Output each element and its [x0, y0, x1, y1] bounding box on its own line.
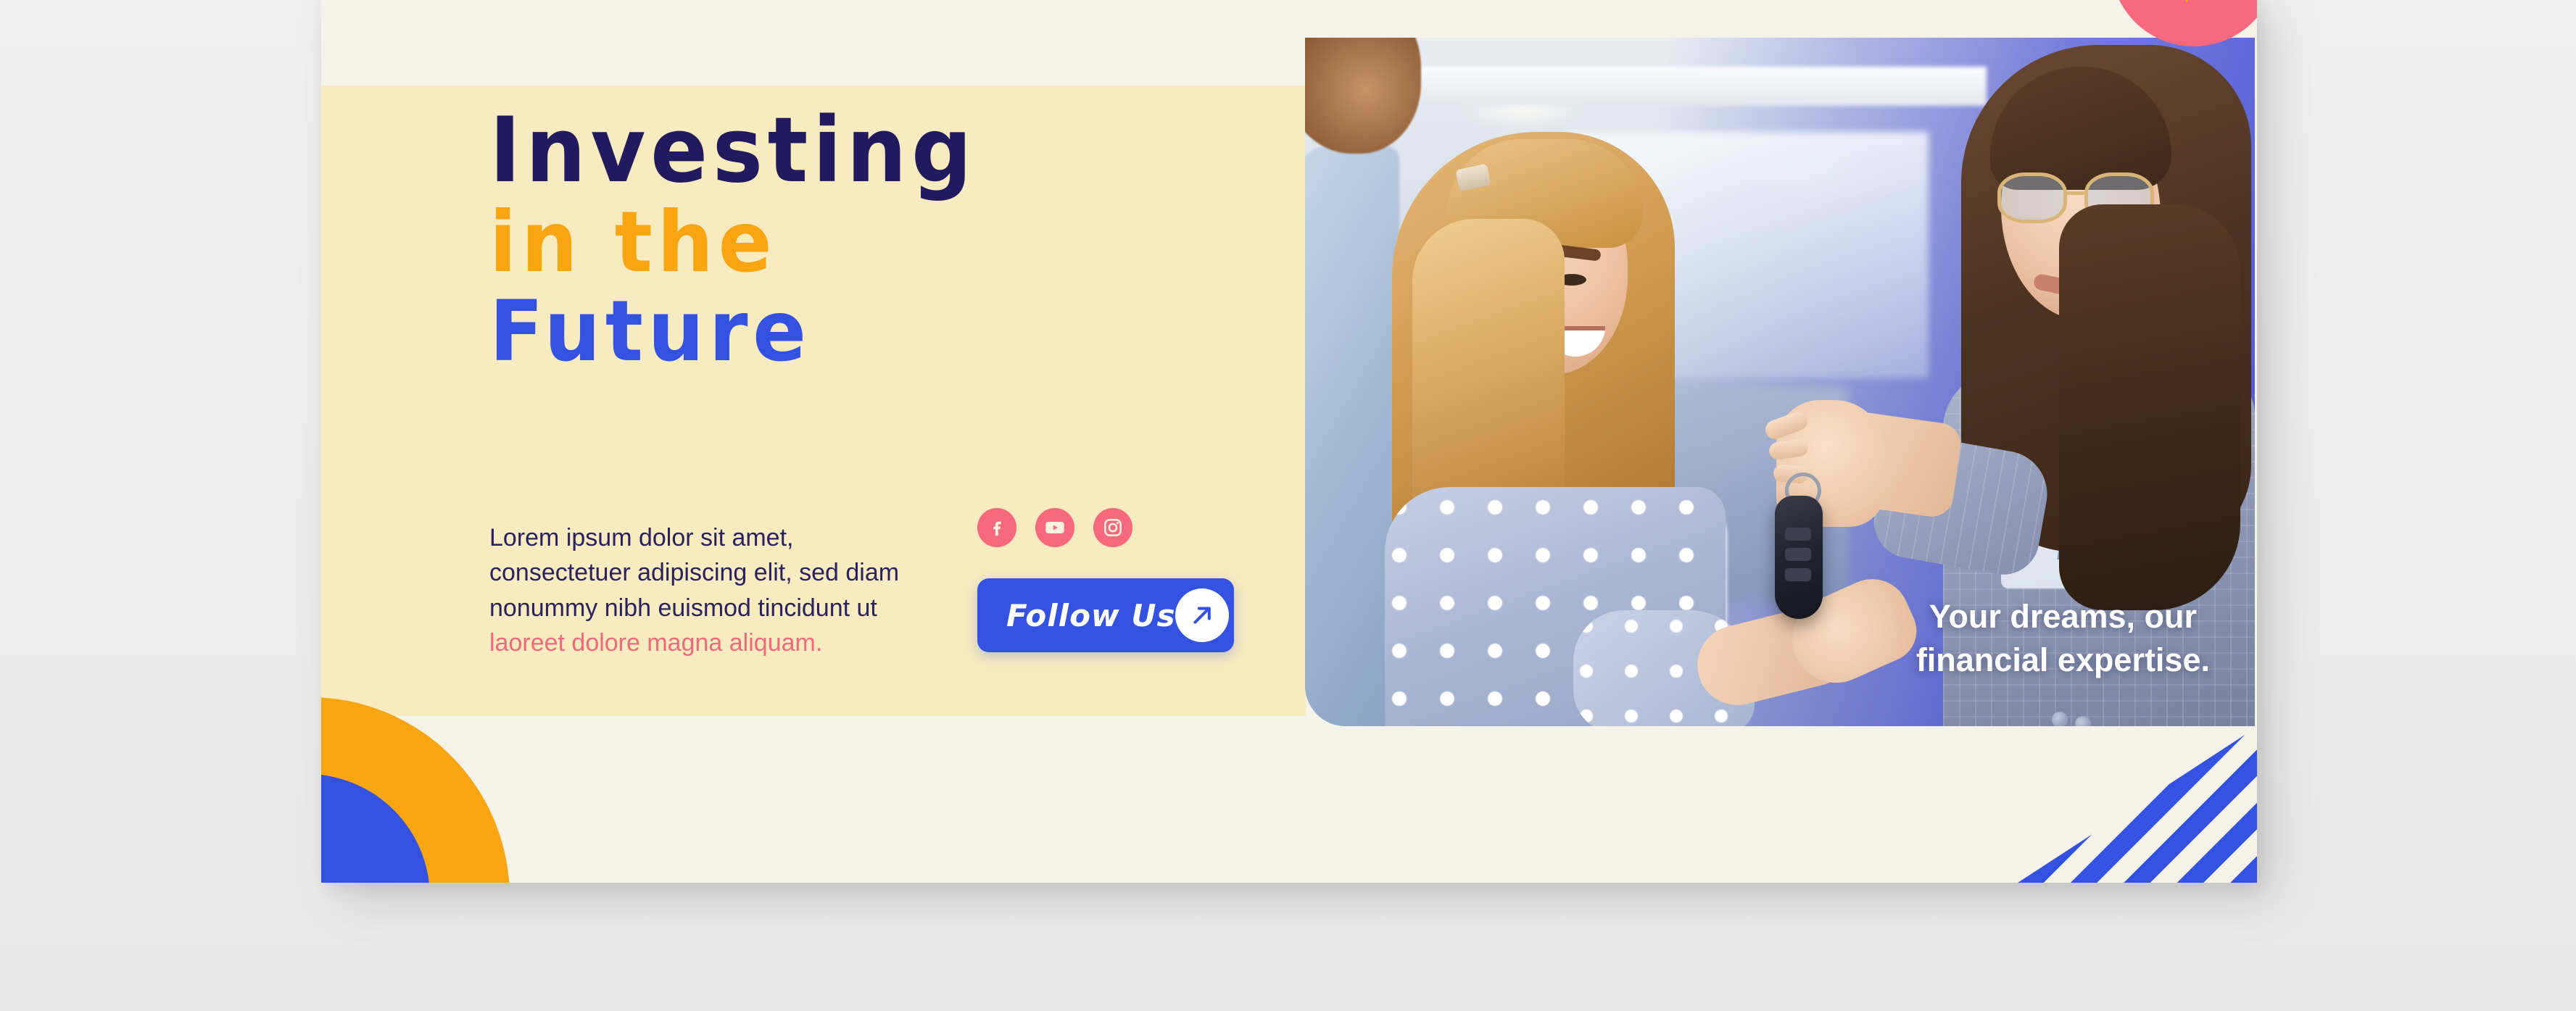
follow-us-label: Follow Us	[1006, 598, 1175, 633]
content-panel: Investing in the Future Lorem ipsum dolo…	[321, 86, 1306, 716]
youtube-icon	[1044, 517, 1066, 538]
photo-key-button	[1785, 568, 1811, 581]
photo-man-head	[1305, 38, 1421, 154]
photo-key-button	[1785, 548, 1811, 561]
photo-caption: Your dreams, our financial expertise.	[1916, 595, 2210, 681]
decoration-quarter-circles	[321, 697, 510, 883]
follow-us-button[interactable]: Follow Us	[977, 578, 1234, 652]
banner-card: Investing in the Future Lorem ipsum dolo…	[321, 0, 2257, 883]
social-links	[977, 508, 1132, 547]
page-title: Investing in the Future	[489, 107, 1258, 373]
social-link-facebook[interactable]	[977, 508, 1016, 547]
social-link-youtube[interactable]	[1035, 508, 1074, 547]
headline-line-2: in the	[489, 201, 1212, 284]
headline-line-1: Investing	[489, 107, 1212, 196]
body-accent-line: laoreet dolore magna aliquam.	[489, 625, 939, 660]
hero-photo: Your dreams, our financial expertise.	[1305, 38, 2255, 726]
photo-woman2-long-hair	[2059, 204, 2240, 610]
body-line-2: consectetuer adipiscing elit, sed diam	[489, 555, 939, 590]
instagram-icon	[1102, 517, 1124, 538]
decoration-orange-triangle	[2174, 0, 2199, 3]
photo-caption-line-1: Your dreams, our	[1916, 595, 2210, 638]
page-canvas: Investing in the Future Lorem ipsum dolo…	[0, 0, 2576, 1011]
facebook-icon	[986, 517, 1008, 538]
arrow-up-right-icon	[1175, 588, 1229, 642]
photo-caption-line-2: financial expertise.	[1916, 638, 2210, 681]
social-link-instagram[interactable]	[1093, 508, 1132, 547]
photo-key-button	[1785, 528, 1811, 541]
body-paragraph: Lorem ipsum dolor sit amet, consectetuer…	[489, 520, 939, 660]
body-line-3: nonummy nibh euismod tincidunt ut	[489, 591, 939, 625]
headline-line-3: Future	[489, 291, 1212, 373]
photo-image: Your dreams, our financial expertise.	[1305, 38, 2255, 726]
photo-blazer-button	[2075, 716, 2091, 726]
photo-bg-ceiling	[1392, 67, 1987, 106]
body-line-1: Lorem ipsum dolor sit amet,	[489, 520, 939, 555]
glasses-lens-left	[1997, 172, 2067, 223]
photo-car-key	[1775, 496, 1823, 619]
decoration-diagonal-stripes	[2018, 727, 2257, 883]
photo-blazer-button	[2052, 712, 2068, 726]
